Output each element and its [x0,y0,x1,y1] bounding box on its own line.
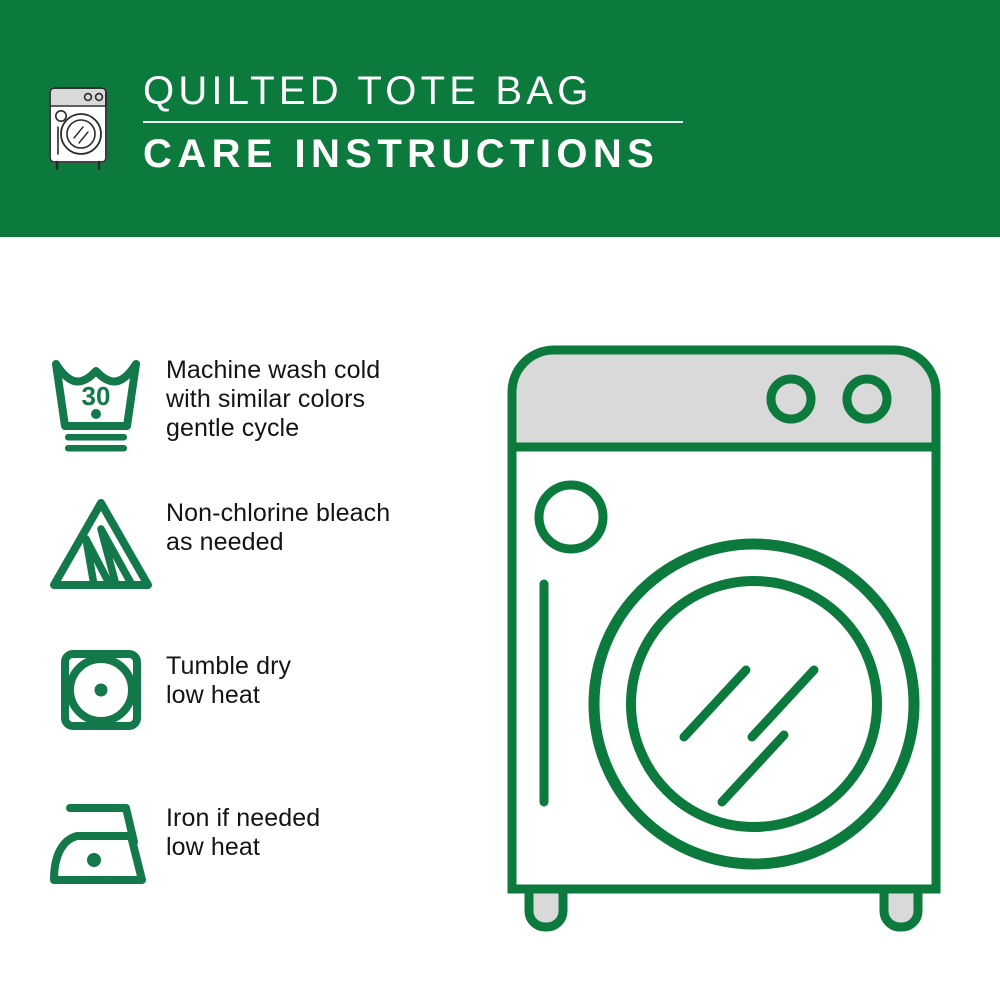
page-title-line2: CARE INSTRUCTIONS [143,129,703,179]
care-instructions-infographic: QUILTED TOTE BAG CARE INSTRUCTIONS 30 Ma… [0,0,1000,1000]
care-text-line: low heat [166,681,291,710]
header-title-block: QUILTED TOTE BAG CARE INSTRUCTIONS [143,66,703,179]
front-load-washing-machine-illustration [494,332,974,932]
care-text-line: with similar colors [166,385,380,414]
title-divider [143,121,683,123]
care-text-line: Non-chlorine bleach [166,499,390,528]
wash-basin-icon: 30 [48,352,166,456]
bleach-triangle-icon [48,495,166,595]
header-banner: QUILTED TOTE BAG CARE INSTRUCTIONS [0,0,1000,237]
iron-icon [48,800,166,890]
care-text-bleach: Non-chlorine bleach as needed [166,495,390,557]
care-text-line: Machine wash cold [166,356,380,385]
care-text-line: gentle cycle [166,414,380,443]
care-text-line: as needed [166,528,390,557]
care-text-iron: Iron if needed low heat [166,800,320,862]
care-row-bleach: Non-chlorine bleach as needed [48,495,478,595]
wash-temperature-label: 30 [82,381,111,411]
page-title-line1: QUILTED TOTE BAG [143,66,703,116]
washing-machine-icon [47,72,109,172]
care-text-line: low heat [166,833,320,862]
tumble-dry-icon [48,648,166,748]
care-text-wash: Machine wash cold with similar colors ge… [166,352,380,443]
care-text-line: Tumble dry [166,652,291,681]
care-text-line: Iron if needed [166,804,320,833]
care-text-tumble-dry: Tumble dry low heat [166,648,291,710]
care-row-tumble-dry: Tumble dry low heat [48,648,478,748]
care-row-iron: Iron if needed low heat [48,800,478,890]
care-row-wash: 30 Machine wash cold with similar colors… [48,352,478,456]
